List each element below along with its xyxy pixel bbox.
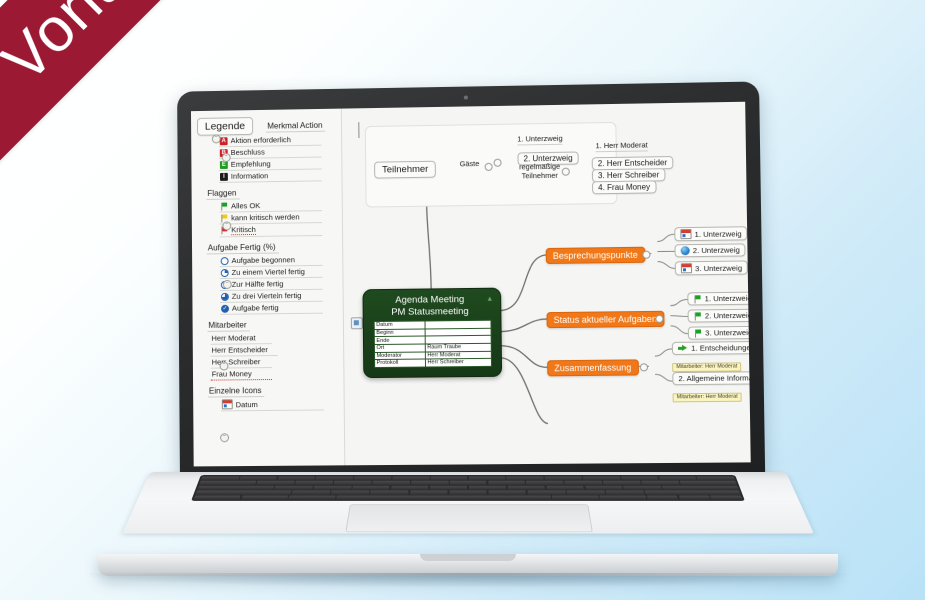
laptop-shadow [90, 573, 846, 587]
key[interactable] [488, 481, 525, 485]
node-besprechung-child-3[interactable]: 3. Unterzweig [675, 260, 749, 275]
key[interactable] [292, 491, 331, 495]
node-besprechung-child-1[interactable]: 1. Unterzweig [674, 226, 748, 241]
legend-item-label: Alles OK [231, 201, 260, 210]
legend-item-label: Datum [236, 400, 258, 409]
legend-item-herr-entscheider[interactable]: Herr Entscheider [211, 344, 278, 357]
legend-item-information[interactable]: I Information [219, 169, 322, 182]
key[interactable] [469, 486, 507, 490]
legend-item-label: Kritisch [231, 225, 256, 235]
laptop-base-top [122, 472, 814, 534]
key[interactable] [274, 486, 313, 490]
arrow-green-icon [678, 344, 688, 352]
central-node-title: Agenda Meeting PM Statusmeeting [363, 289, 500, 322]
key[interactable] [334, 481, 372, 485]
legend-group-merkmal[interactable]: Merkmal Action [266, 121, 325, 133]
center-node-attachment-icon[interactable] [351, 317, 363, 329]
legend-item-label: Aufgabe begonnen [231, 255, 294, 265]
flag-green-icon [693, 295, 701, 303]
key[interactable] [449, 491, 487, 495]
key[interactable] [527, 491, 565, 495]
calendar-icon [222, 399, 233, 409]
legend-item-aufgabe-fertig[interactable]: Aufgabe fertig [220, 302, 323, 315]
node-regular-4[interactable]: 4. Frau Money [592, 176, 656, 195]
legend-item-label: Aufgabe fertig [232, 303, 279, 312]
key[interactable] [585, 486, 623, 490]
collapse-marker-icon[interactable]: ▲ [486, 296, 493, 303]
key[interactable] [241, 495, 288, 499]
key[interactable] [507, 486, 545, 490]
keyboard-row [196, 491, 741, 495]
key[interactable] [352, 486, 390, 490]
key[interactable] [331, 491, 370, 495]
key[interactable] [313, 486, 351, 490]
laptop-mockup: Legende Merkmal Action A Aktion erforder… [0, 0, 925, 600]
progress-0-icon [221, 257, 229, 265]
laptop-screen: Legende Merkmal Action A Aktion erforder… [191, 102, 751, 467]
key[interactable] [201, 476, 239, 480]
key[interactable] [526, 481, 564, 485]
progress-25-icon [221, 269, 229, 277]
legend-group-aufgabe-fertig[interactable]: Aufgabe Fertig (%) [207, 243, 279, 255]
legend-item-label: Zu einem Viertel fertig [232, 267, 305, 277]
trackpad[interactable] [345, 504, 593, 532]
legend-item-label: Information [231, 171, 269, 180]
key[interactable] [488, 491, 526, 495]
key[interactable] [507, 476, 544, 480]
key[interactable] [599, 495, 646, 499]
key[interactable] [199, 481, 256, 485]
legend-item-label: Aktion erforderlich [231, 135, 291, 145]
node-regular-1[interactable]: 1. Herr Moderat [596, 141, 648, 151]
keyboard-row [194, 495, 743, 499]
collapse-toggle-regelmaessige[interactable] [562, 168, 570, 176]
calendar-icon [681, 263, 692, 273]
collapse-toggle-einzelne-icons[interactable]: − [220, 433, 229, 442]
key[interactable] [256, 481, 294, 485]
legend-group-flaggen[interactable]: Flaggen [206, 189, 239, 200]
key[interactable] [605, 491, 644, 495]
spacebar-key[interactable] [336, 495, 552, 499]
key[interactable] [239, 476, 277, 480]
keyboard-row [199, 481, 737, 485]
node-besprechung-child-2[interactable]: 2. Unterzweig [674, 243, 745, 257]
collapse-toggle-flaggen[interactable]: − [222, 221, 231, 230]
node-gaeste-child-1[interactable]: 1. Unterzweig [517, 135, 562, 145]
laptop-base [0, 455, 925, 600]
mindmap-canvas[interactable]: Legende Merkmal Action A Aktion erforder… [191, 102, 751, 467]
key[interactable] [678, 495, 710, 499]
key[interactable] [316, 476, 354, 480]
node-zusammenfassung[interactable]: Zusammenfassung [547, 357, 638, 376]
legend-item-kritisch[interactable]: Kritisch [219, 223, 322, 237]
key[interactable] [430, 486, 468, 490]
collapse-toggle-status[interactable] [655, 315, 663, 323]
lid-open-notch [420, 554, 516, 561]
node-status-child-2[interactable]: 2. Unterzweig [688, 309, 751, 323]
legend-item-label: Empfehlung [231, 159, 271, 169]
node-besprechungspunkte[interactable]: Besprechungspunkte [546, 245, 645, 264]
collapse-toggle-aufgabe[interactable]: − [223, 280, 232, 289]
key[interactable] [552, 495, 599, 499]
key[interactable] [623, 486, 662, 490]
legend-item-label: Zu drei Vierteln fertig [232, 291, 302, 301]
key[interactable] [469, 476, 506, 480]
legend-title: Legende [197, 117, 253, 136]
key[interactable] [449, 481, 486, 485]
key[interactable] [697, 476, 735, 480]
key[interactable] [566, 491, 605, 495]
key[interactable] [411, 481, 448, 485]
node-status-aktueller-aufgaben[interactable]: Status aktueller Aufgaben [546, 309, 664, 328]
note-mitarbeiter-1: Mitarbeiter: Herr Moderat [672, 362, 741, 372]
flag-green-icon [220, 202, 228, 210]
key[interactable] [583, 476, 621, 480]
node-status-child-1[interactable]: 1. Unterzweig [687, 292, 750, 306]
legend-item-label: kann kritisch werden [231, 212, 299, 222]
legend-panel[interactable]: Legende Merkmal Action A Aktion erforder… [191, 109, 345, 467]
legend-content: Legende Merkmal Action A Aktion erforder… [191, 109, 344, 412]
webcam-icon [464, 96, 468, 100]
key[interactable] [621, 476, 659, 480]
collapse-toggle-zusammenfassung[interactable] [640, 363, 648, 371]
keyboard[interactable] [191, 475, 745, 501]
legend-item-datum[interactable]: Datum [221, 397, 324, 411]
collapse-toggle-merkmal[interactable]: − [222, 153, 231, 162]
node-status-child-3[interactable]: 3. Unterzweig [688, 326, 751, 340]
key[interactable] [295, 481, 333, 485]
key[interactable] [641, 481, 679, 485]
legend-group-einzelne-icons[interactable]: Einzelne Icons [208, 386, 265, 397]
node-teilnehmer[interactable]: Teilnehmer [374, 159, 436, 178]
collapse-toggle-gaeste[interactable] [494, 159, 502, 167]
laptop-lid: Legende Merkmal Action A Aktion erforder… [177, 81, 765, 480]
key[interactable] [194, 495, 241, 499]
letter-i-black-icon: I [220, 172, 228, 180]
letter-a-red-icon: A [220, 137, 228, 145]
legend-item-herr-moderat[interactable]: Herr Moderat [210, 332, 271, 345]
legend-item-label: Zur Hälfte fertig [232, 279, 284, 289]
key[interactable] [392, 476, 429, 480]
flag-green-icon [694, 312, 702, 320]
key[interactable] [410, 491, 448, 495]
key[interactable] [354, 476, 391, 480]
key[interactable] [391, 486, 429, 490]
key[interactable] [277, 476, 315, 480]
collapse-toggle-mitarbeiter[interactable]: − [220, 361, 229, 370]
collapse-toggle-legende[interactable]: − [212, 134, 221, 143]
key[interactable] [370, 491, 408, 495]
node-gaeste[interactable]: Gäste [460, 160, 480, 169]
key[interactable] [197, 486, 274, 490]
flag-green-icon [694, 329, 702, 337]
key[interactable] [644, 491, 740, 495]
keyboard-row [201, 476, 735, 480]
key[interactable] [546, 486, 584, 490]
key[interactable] [710, 495, 742, 499]
collapse-toggle-besprechungspunkte[interactable] [642, 251, 650, 259]
node-zusammenfassung-child-2[interactable]: 2. Allgemeine Information Mitarbeiter: H… [672, 371, 750, 403]
key[interactable] [545, 476, 582, 480]
key[interactable] [372, 481, 410, 485]
globe-icon [681, 246, 690, 255]
legend-item-frau-money[interactable]: Frau Money [211, 368, 272, 381]
node-zusammenfassung-child-1[interactable]: 1. Entscheidungen Mitarbeiter: Herr Mode… [672, 341, 751, 373]
central-node-table: Datum Beginn Ende Ort [373, 320, 491, 368]
key[interactable] [680, 481, 737, 485]
key[interactable] [288, 495, 335, 499]
progress-100-icon [221, 304, 229, 312]
key[interactable] [603, 481, 641, 485]
key[interactable] [659, 476, 697, 480]
note-mitarbeiter-2: Mitarbeiter: Herr Moderat [673, 392, 742, 402]
key[interactable] [565, 481, 603, 485]
progress-75-icon [221, 292, 229, 300]
node-regelmaessige-teilnehmer[interactable]: regelmäßige Teilnehmer [517, 163, 563, 181]
keyboard-row [197, 486, 738, 490]
key[interactable] [646, 495, 678, 499]
legend-item-label: Beschluss [231, 148, 265, 157]
legend-group-mitarbeiter[interactable]: Mitarbeiter [207, 320, 249, 331]
key[interactable] [662, 486, 739, 490]
central-node-agenda-meeting[interactable]: ▲ Agenda Meeting PM Statusmeeting Datum … [362, 288, 502, 379]
table-row: Protokoll Herr Schreiber [374, 358, 491, 367]
key[interactable] [430, 476, 467, 480]
calendar-icon [680, 229, 691, 239]
key[interactable] [196, 491, 292, 495]
